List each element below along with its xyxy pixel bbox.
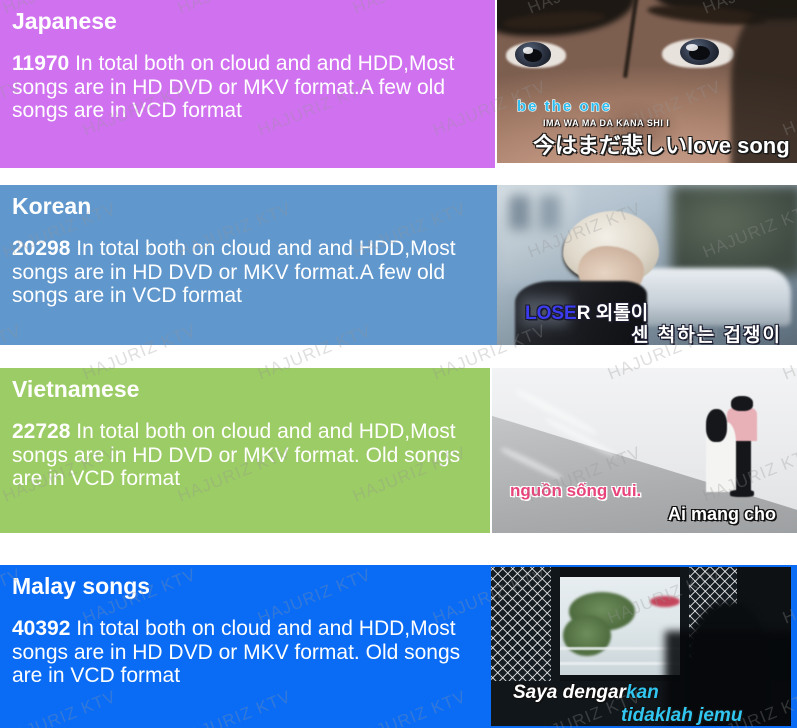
tree-foliage-2 xyxy=(563,615,611,656)
foliage-background xyxy=(671,185,797,275)
korean-subtitle-line2: 센 척하는 겁쟁이 xyxy=(631,320,782,345)
vietnamese-subtitle-line2: Ai mang cho xyxy=(668,504,776,525)
window-panel xyxy=(509,195,530,230)
vietnamese-karaoke-thumbnail[interactable]: nguồn sống vui. Ai mang cho xyxy=(492,368,797,533)
malay-subtitle-line2: tidaklah jemu xyxy=(621,705,742,727)
japanese-subtitle-romaji: IMA WA MA DA KANA SHI I xyxy=(543,118,669,128)
vietnamese-count: 22728 xyxy=(12,420,70,443)
japanese-subtitle-top: be the one xyxy=(517,98,612,115)
malay-description-text: In total both on cloud and and HDD,Most … xyxy=(12,617,460,687)
section-malay: Malay songs 40392 In total both on cloud… xyxy=(0,565,797,728)
japanese-title: Japanese xyxy=(12,8,485,34)
section-vietnamese: Vietnamese 22728 In total both on cloud … xyxy=(0,368,797,533)
korean-title: Korean xyxy=(12,193,487,219)
window-panel-2 xyxy=(539,195,560,230)
japanese-description: 11970 In total both on cloud and and HDD… xyxy=(12,38,485,123)
malay-subtitle-line1: Saya dengarkan xyxy=(513,682,659,704)
korean-description: 20298 In total both on cloud and and HDD… xyxy=(12,223,487,308)
japanese-description-text: In total both on cloud and and HDD,Most … xyxy=(12,52,455,122)
korean-info-panel: Korean 20298 In total both on cloud and … xyxy=(0,185,497,345)
section-japanese: Japanese 11970 In total both on cloud an… xyxy=(0,0,797,168)
malay-karaoke-thumbnail[interactable]: Saya dengarkan tidaklah jemu xyxy=(489,565,793,728)
vietnamese-description: 22728 In total both on cloud and and HDD… xyxy=(12,406,480,491)
japanese-karaoke-thumbnail[interactable]: be the one IMA WA MA DA KANA SHI I 今はまだ悲… xyxy=(497,0,797,163)
korean-count: 20298 xyxy=(12,237,70,260)
vietnamese-info-panel: Vietnamese 22728 In total both on cloud … xyxy=(0,368,490,533)
vietnamese-subtitle-line1: nguồn sống vui. xyxy=(510,481,641,501)
korean-description-text: In total both on cloud and and HDD,Most … xyxy=(12,237,456,307)
flower-pot-blooms xyxy=(650,596,680,607)
vietnamese-description-text: In total both on cloud and and HDD,Most … xyxy=(12,420,460,490)
korean-subtitle-line1: LOSER 외톨이 xyxy=(525,298,648,325)
man-hair xyxy=(731,396,752,411)
man-shoe xyxy=(730,490,754,497)
japanese-info-panel: Japanese 11970 In total both on cloud an… xyxy=(0,0,495,168)
malay-subtitle-plain: Saya dengar xyxy=(513,682,626,703)
glint-left xyxy=(523,47,534,54)
woman-hair xyxy=(706,409,727,442)
section-korean: Korean 20298 In total both on cloud and … xyxy=(0,185,797,345)
vietnamese-title: Vietnamese xyxy=(12,376,480,402)
malay-count: 40392 xyxy=(12,617,70,640)
korean-karaoke-thumbnail[interactable]: LOSER 외톨이 센 척하는 겁쟁이 xyxy=(497,185,797,345)
korean-subtitle-highlight: LOSE xyxy=(525,303,577,324)
japanese-subtitle-main: 今はまだ悲しいlove song xyxy=(533,128,790,160)
japanese-count: 11970 xyxy=(12,52,69,75)
malay-subtitle-highlight: kan xyxy=(626,682,659,703)
malay-description: 40392 In total both on cloud and and HDD… xyxy=(12,603,482,688)
